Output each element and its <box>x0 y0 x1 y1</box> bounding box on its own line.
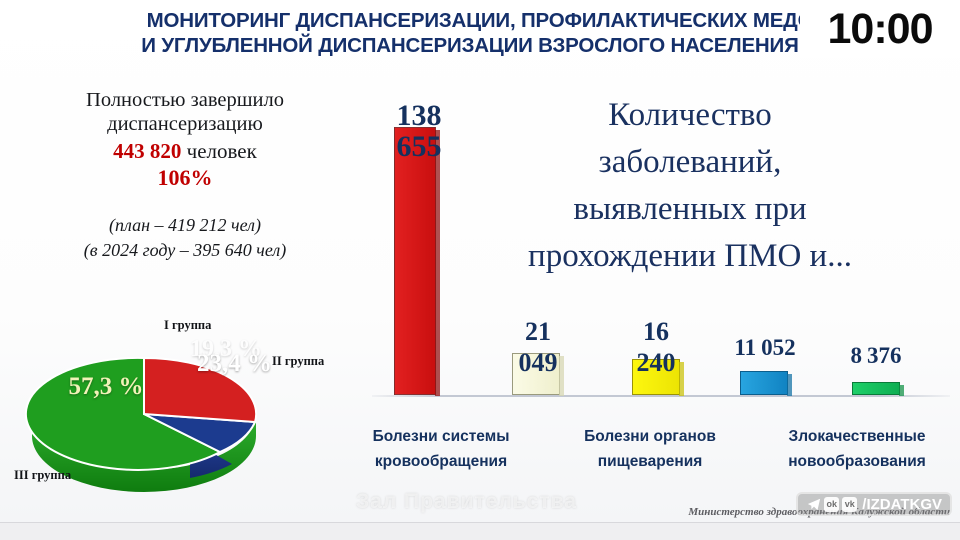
bar-value-line2: 240 <box>618 347 694 378</box>
diseases-bar-chart: 138 655 21 049 16 240 <box>360 86 960 416</box>
completed-summary: Полностью завершило диспансеризацию 443 … <box>10 88 360 191</box>
cat-line1: Болезни органов <box>550 424 750 449</box>
clock-overlay: 10:00 <box>800 0 960 58</box>
cat-line2: кровообращения <box>336 449 546 474</box>
bar-value-malignant-neoplasms: 11 052 <box>722 336 808 360</box>
category-label-blood-circulation: Болезни системы кровообращения <box>336 424 546 474</box>
social-watermark: ok vk /IZDATKGV <box>796 492 952 516</box>
chart-baseline-axis <box>372 395 950 397</box>
bar-value-line1: 16 <box>618 316 694 347</box>
chart-title-line4: прохождении ПМО и... <box>440 233 940 280</box>
pie-value-group2: 23,4 % <box>197 350 293 377</box>
bar-value-category-three: 16 240 <box>618 316 694 378</box>
cat-line2: новообразования <box>754 449 960 474</box>
chart-title: Количество заболеваний, выявленных при п… <box>440 92 940 280</box>
category-label-digestive-organs: Болезни органов пищеварения <box>550 424 750 474</box>
completed-count-value: 443 820 <box>113 139 181 163</box>
note-previous-year: (в 2024 году – 395 640 чел) <box>10 238 360 263</box>
social-handle: /IZDATKGV <box>862 496 942 513</box>
bar-value-category-five: 8 376 <box>830 344 922 368</box>
cat-line2: пищеварения <box>550 449 750 474</box>
telegram-icon <box>806 497 821 512</box>
vk-icon: vk <box>842 497 857 512</box>
bar-value-line1: 8 <box>851 344 863 368</box>
health-groups-pie-chart: I группа II группа III группа 19,3 % 23,… <box>14 318 344 503</box>
bar-value-line1: 21 <box>500 316 576 347</box>
summary-caption-line1: Полностью завершило <box>10 88 360 112</box>
completed-count-unit: человек <box>187 139 257 163</box>
screenshot-stage: МОНИТОРИНГ ДИСПАНСЕРИЗАЦИИ, ПРОФИЛАКТИЧЕ… <box>0 0 960 540</box>
bar-category-five <box>852 382 900 395</box>
pie-value-group3: 57,3 % <box>66 373 146 400</box>
clock-time: 10:00 <box>828 7 933 51</box>
bar-value-line2: 049 <box>500 347 576 378</box>
bar-value-line2: 376 <box>867 344 902 368</box>
cat-line1: Злокачественные <box>754 424 960 449</box>
chart-title-line1: Количество <box>440 92 940 139</box>
pie-label-group1: I группа <box>164 318 211 333</box>
note-plan: (план – 419 212 чел) <box>10 213 360 238</box>
bar-value-line1: 11 <box>734 336 756 360</box>
footer-strip <box>0 522 960 540</box>
hall-watermark: Зал Правительства <box>356 490 577 514</box>
presentation-slide: МОНИТОРИНГ ДИСПАНСЕРИЗАЦИИ, ПРОФИЛАКТИЧЕ… <box>0 0 960 522</box>
bar-malignant-neoplasms <box>740 371 788 395</box>
completed-count-row: 443 820 человек <box>10 138 360 165</box>
odnoklassniki-icon: ok <box>824 497 839 512</box>
bar-blood-circulation <box>394 127 436 395</box>
bar-side-shadow <box>787 374 792 396</box>
completed-percent: 106% <box>10 165 360 191</box>
bar-value-digestive-organs: 21 049 <box>500 316 576 378</box>
pie-label-group3: III группа <box>14 468 71 483</box>
chart-title-line2: заболеваний, <box>440 139 940 186</box>
summary-caption-line2: диспансеризацию <box>10 112 360 136</box>
cat-line1: Болезни системы <box>336 424 546 449</box>
bar-side-shadow <box>899 385 904 396</box>
chart-title-line3: выявленных при <box>440 186 940 233</box>
category-label-malignant-neoplasms: Злокачественные новообразования <box>754 424 960 474</box>
bar-value-line2: 052 <box>761 336 796 360</box>
summary-notes: (план – 419 212 чел) (в 2024 году – 395 … <box>10 213 360 263</box>
summary-panel: Полностью завершило диспансеризацию 443 … <box>10 88 360 263</box>
